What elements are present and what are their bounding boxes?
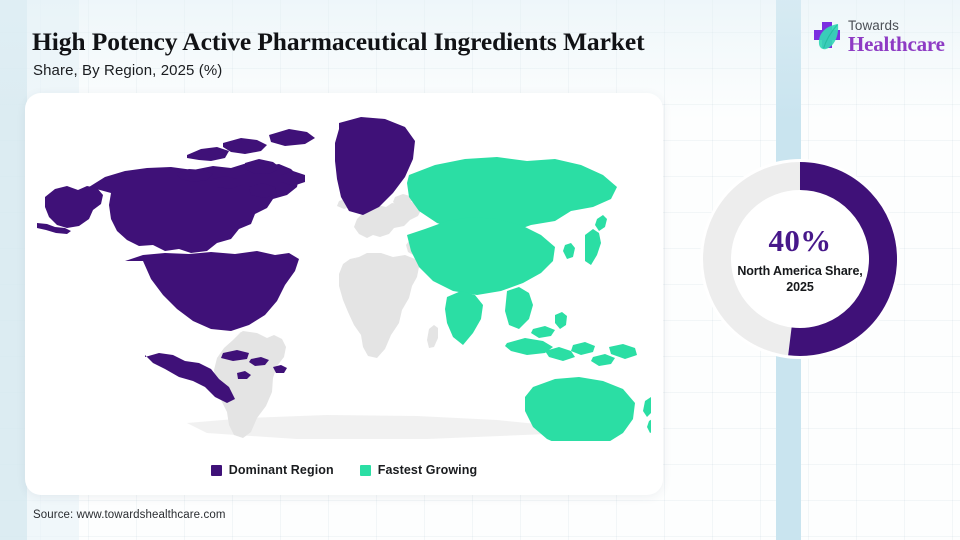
page-title: High Potency Active Pharmaceutical Ingre… (32, 27, 752, 57)
background-left-band (0, 0, 27, 540)
map-legend: Dominant Region Fastest Growing (25, 463, 663, 477)
world-map (37, 101, 651, 441)
map-region-asia-pacific (407, 157, 651, 441)
legend-swatch-dominant-icon (211, 465, 222, 476)
legend-label-fastest: Fastest Growing (378, 463, 477, 477)
legend-item-fastest-growing[interactable]: Fastest Growing (360, 463, 477, 477)
legend-swatch-fastest-icon (360, 465, 371, 476)
brand-logo[interactable]: Towards Healthcare (810, 18, 950, 66)
brand-logo-line2: Healthcare (848, 33, 952, 56)
medical-cross-leaf-icon (810, 20, 844, 54)
infographic-page: High Potency Active Pharmaceutical Ingre… (0, 0, 960, 540)
map-card: Dominant Region Fastest Growing (25, 93, 663, 495)
legend-item-dominant-region[interactable]: Dominant Region (211, 463, 334, 477)
brand-logo-line1: Towards (848, 18, 952, 33)
brand-logo-text: Towards Healthcare (848, 18, 952, 56)
north-america-share-donut: 40% North America Share, 2025 (696, 155, 904, 363)
source-text: Source: www.towardshealthcare.com (33, 509, 226, 521)
legend-label-dominant: Dominant Region (229, 463, 334, 477)
page-subtitle: Share, By Region, 2025 (%) (33, 62, 222, 79)
